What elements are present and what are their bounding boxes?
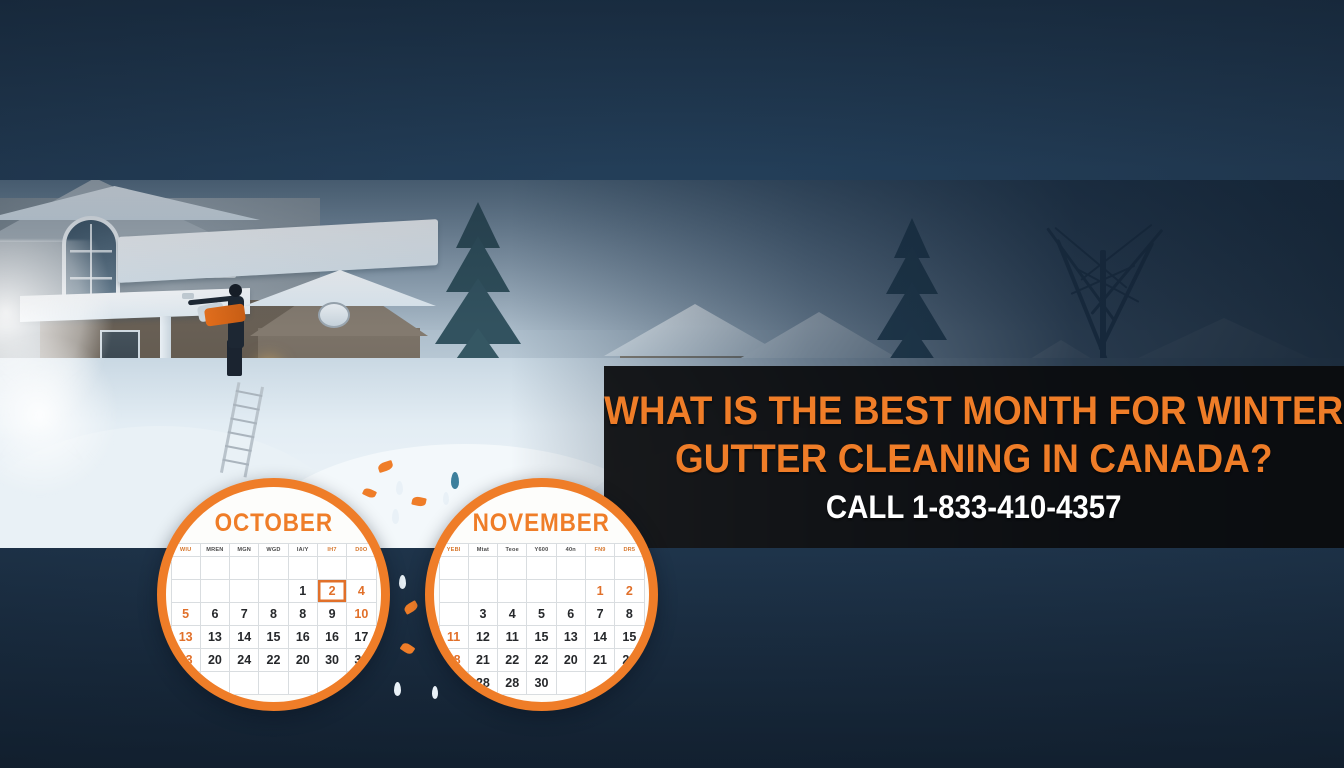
calendar-week-row: 28212222202122: [439, 649, 644, 672]
calendar-day: [615, 557, 644, 580]
calendar-day[interactable]: 1: [288, 580, 317, 603]
calendar-day[interactable]: 9: [317, 603, 346, 626]
calendar-day-header: IH7: [317, 544, 346, 557]
calendar-day-header: Teoe: [498, 544, 527, 557]
calendar-day-header: D0O: [347, 544, 376, 557]
calendar-day: [498, 557, 527, 580]
calendar-day[interactable]: 14: [230, 626, 259, 649]
calendar-day[interactable]: 30: [317, 649, 346, 672]
calendar-day: [259, 580, 288, 603]
phone-cta[interactable]: CALL 1-833-410-4357: [826, 491, 1122, 523]
calendar-day[interactable]: 11: [498, 626, 527, 649]
calendar-day[interactable]: 11: [439, 626, 468, 649]
calendar-day[interactable]: 16: [288, 626, 317, 649]
calendar-day[interactable]: 1: [585, 580, 614, 603]
calendar-day-header-row: YEBIMtatTeoeY60040nFN9DR5: [439, 544, 644, 557]
water-drop-particle: [392, 509, 399, 524]
calendar-day[interactable]: 22: [527, 649, 556, 672]
calendar-day: [230, 557, 259, 580]
calendar-day-header: WIU: [171, 544, 200, 557]
calendar-day-header: DR5: [615, 544, 644, 557]
calendar-day[interactable]: 8: [615, 603, 644, 626]
calendar-day[interactable]: 16: [317, 626, 346, 649]
calendar-day[interactable]: 8: [288, 603, 317, 626]
calendar-day-highlighted[interactable]: 2: [317, 580, 346, 603]
calendar-week-row: 23202422203030: [171, 649, 376, 672]
calendar-day: [288, 557, 317, 580]
calendar-day-header: Y600: [527, 544, 556, 557]
calendar-day-header: Mtat: [468, 544, 497, 557]
calendar-day: [259, 672, 288, 695]
calendar-day: [259, 557, 288, 580]
headline-line-2: GUTTER CLEANING IN CANADA?: [675, 439, 1273, 479]
calendar-november[interactable]: NOVEMBER YEBIMtatTeoeY60040nFN9DR5 12345…: [425, 478, 658, 711]
calendar-day[interactable]: 2: [615, 580, 644, 603]
calendar-day[interactable]: 13: [171, 626, 200, 649]
water-drop-particle: [399, 575, 406, 589]
banner-stage: WHAT IS THE BEST MONTH FOR WINTER GUTTER…: [0, 0, 1344, 768]
calendar-day: [317, 557, 346, 580]
calendar-day[interactable]: 17: [347, 626, 376, 649]
calendar-day-header-row: WIUMRENMGNWGDIA/YIH7D0O: [171, 544, 376, 557]
calendar-day-header: YEBI: [439, 544, 468, 557]
calendar-week-row: 13131415161617: [171, 626, 376, 649]
calendar-day[interactable]: 21: [468, 649, 497, 672]
calendar-day-header: MGN: [230, 544, 259, 557]
calendar-day: [556, 557, 585, 580]
calendar-day: [230, 580, 259, 603]
water-drop-particle: [451, 472, 459, 489]
calendar-day: [527, 557, 556, 580]
calendar-day[interactable]: 22: [259, 649, 288, 672]
headline-panel: WHAT IS THE BEST MONTH FOR WINTER GUTTER…: [604, 366, 1344, 548]
calendar-day[interactable]: 12: [468, 626, 497, 649]
calendar-day[interactable]: 6: [556, 603, 585, 626]
calendar-day-header: FN9: [585, 544, 614, 557]
calendar-day[interactable]: 20: [288, 649, 317, 672]
calendar-week-row: 124: [171, 580, 376, 603]
calendar-day[interactable]: 20: [556, 649, 585, 672]
water-drop-particle: [394, 682, 401, 696]
calendar-day: [171, 557, 200, 580]
calendar-day[interactable]: 4: [498, 603, 527, 626]
calendar-day: [556, 580, 585, 603]
calendar-day: [439, 603, 468, 626]
calendar-day-header: 40n: [556, 544, 585, 557]
calendar-day[interactable]: 28: [498, 672, 527, 695]
calendar-day[interactable]: 7: [230, 603, 259, 626]
calendar-week-row: [171, 557, 376, 580]
calendar-day: [556, 672, 585, 695]
calendar-day: [527, 580, 556, 603]
calendar-day[interactable]: 4: [347, 580, 376, 603]
calendar-week-row: [439, 557, 644, 580]
calendar-day: [439, 557, 468, 580]
calendar-day-header: IA/Y: [288, 544, 317, 557]
calendar-day-header: WGD: [259, 544, 288, 557]
calendar-week-row: 12: [439, 580, 644, 603]
calendar-day: [288, 672, 317, 695]
calendar-october[interactable]: OCTOBER WIUMRENMGNWGDIA/YIH7D0O 12456788…: [157, 478, 390, 711]
calendar-day: [347, 557, 376, 580]
calendar-day: [498, 580, 527, 603]
calendar-day: [468, 580, 497, 603]
calendar-grid: WIUMRENMGNWGDIA/YIH7D0O 1245678891013131…: [171, 543, 377, 695]
calendar-day[interactable]: 15: [259, 626, 288, 649]
calendar-day[interactable]: 3: [468, 603, 497, 626]
calendar-day: [468, 557, 497, 580]
calendar-day[interactable]: 20: [200, 649, 229, 672]
calendar-week-row: 345678: [439, 603, 644, 626]
calendar-day[interactable]: 6: [200, 603, 229, 626]
calendar-week-row: 56788910: [171, 603, 376, 626]
calendar-day[interactable]: 24: [230, 649, 259, 672]
headline-line-1: WHAT IS THE BEST MONTH FOR WINTER: [604, 391, 1343, 431]
calendar-day: [585, 557, 614, 580]
calendar-grid: YEBIMtatTeoeY60040nFN9DR5 12345678111211…: [439, 543, 645, 695]
calendar-day: [200, 557, 229, 580]
calendar-week-row: 11121115131415: [439, 626, 644, 649]
calendar-day[interactable]: 15: [615, 626, 644, 649]
calendar-day[interactable]: 13: [556, 626, 585, 649]
calendar-day[interactable]: 22: [498, 649, 527, 672]
calendar-day[interactable]: 7: [585, 603, 614, 626]
calendar-day[interactable]: 21: [585, 649, 614, 672]
calendar-day-header: MREN: [200, 544, 229, 557]
calendar-day: [439, 580, 468, 603]
calendar-day: [230, 672, 259, 695]
calendar-day[interactable]: 15: [527, 626, 556, 649]
calendar-day[interactable]: 5: [171, 603, 200, 626]
calendar-title: NOVEMBER: [473, 511, 610, 536]
calendar-day: [171, 580, 200, 603]
calendar-day[interactable]: 5: [527, 603, 556, 626]
calendar-day[interactable]: 8: [259, 603, 288, 626]
calendar-day: [200, 580, 229, 603]
calendar-day[interactable]: 14: [585, 626, 614, 649]
water-drop-particle: [396, 481, 403, 495]
water-drop-particle: [432, 686, 438, 699]
water-drop-particle: [443, 492, 449, 505]
calendar-day[interactable]: 13: [200, 626, 229, 649]
calendar-title: OCTOBER: [214, 511, 332, 536]
calendar-day[interactable]: 30: [527, 672, 556, 695]
calendar-day[interactable]: 10: [347, 603, 376, 626]
